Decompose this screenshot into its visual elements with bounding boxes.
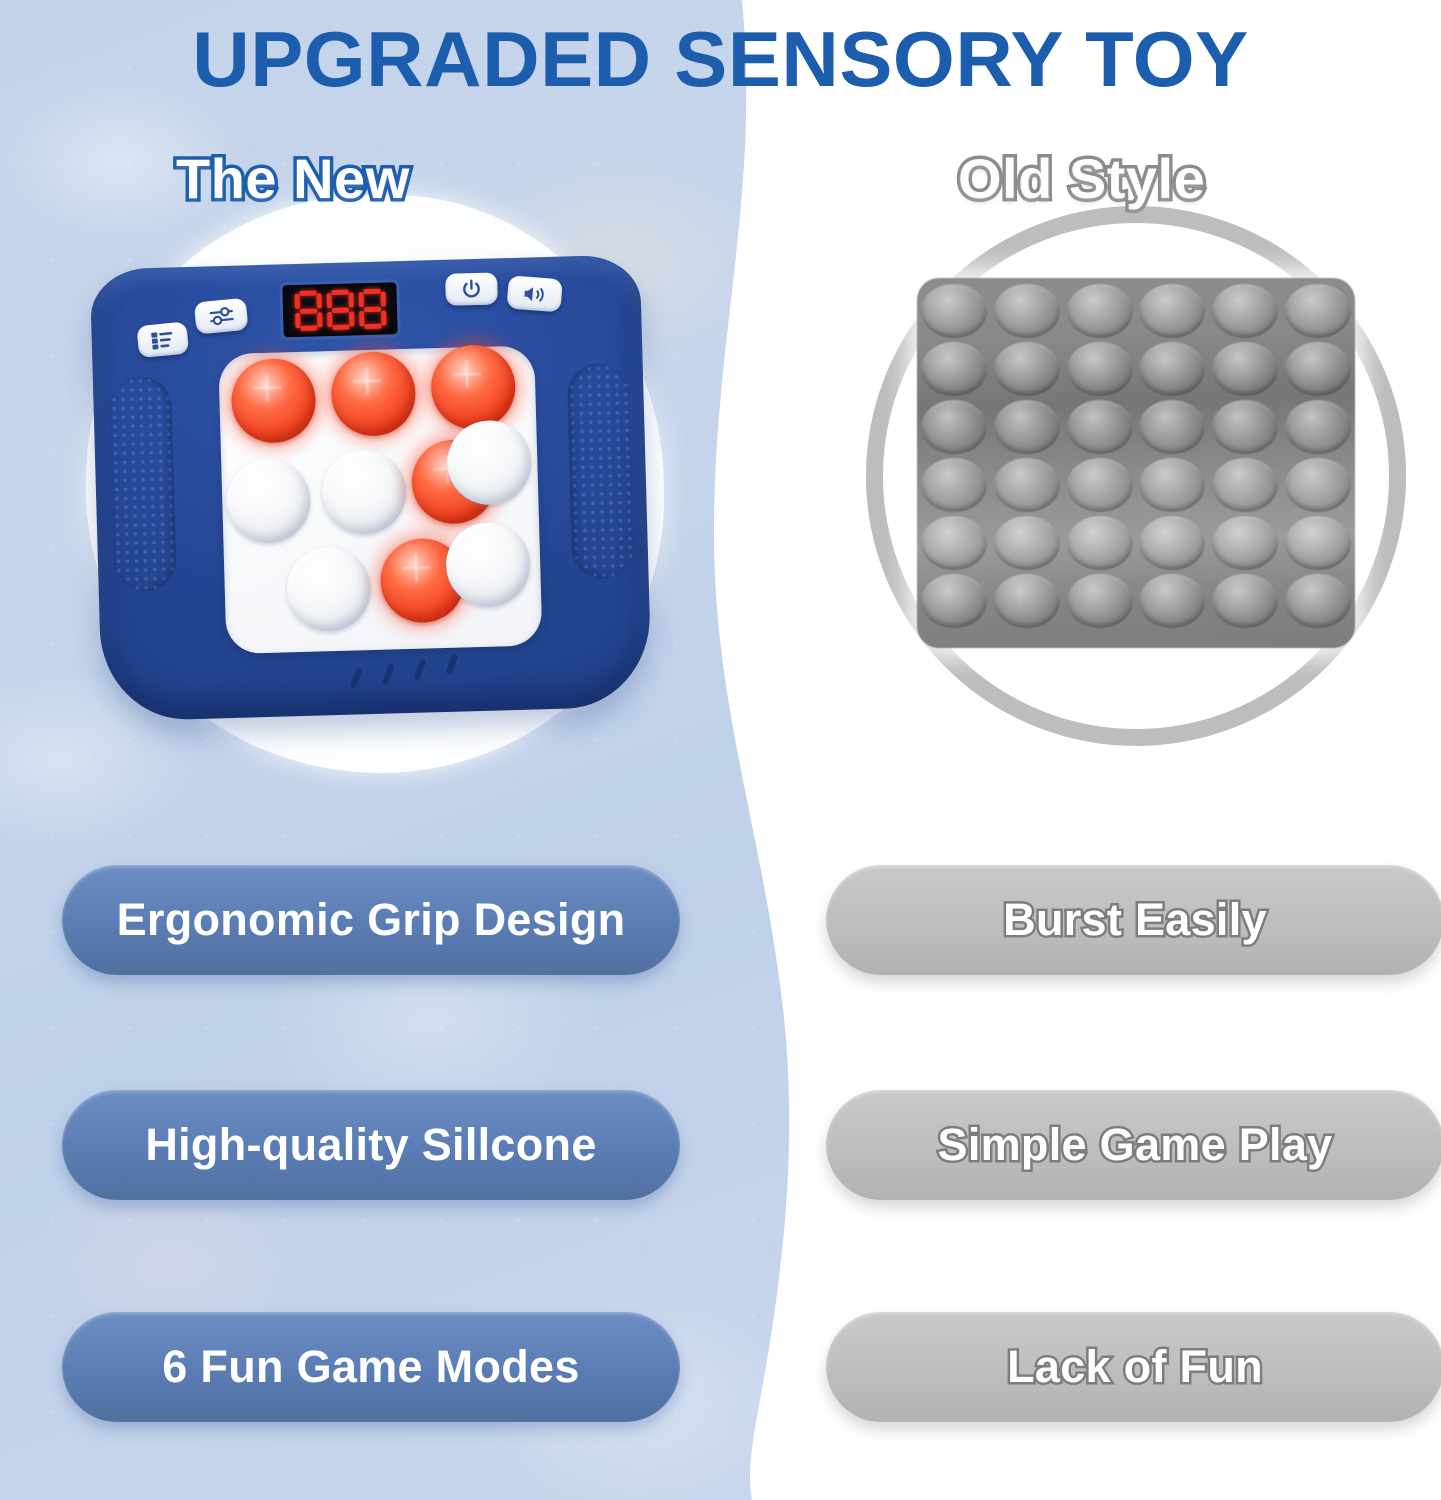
bubble-white[interactable] [321, 449, 407, 535]
pop-bubble [1067, 516, 1133, 570]
bubble-white[interactable] [225, 458, 311, 544]
bubble-red[interactable] [430, 344, 516, 430]
pop-bubble [994, 284, 1060, 338]
new-feature-pill-2: High-quality Sillcone [62, 1090, 680, 1200]
sliders-icon[interactable] [194, 298, 249, 335]
pop-bubble [1067, 284, 1133, 338]
pop-bubble [1285, 458, 1351, 512]
pop-bubble [994, 400, 1060, 454]
power-icon[interactable] [445, 272, 498, 305]
pop-bubble [1285, 516, 1351, 570]
pop-bubble [1285, 284, 1351, 338]
speaker-icon[interactable] [506, 275, 562, 312]
speaker-icon-glyph [522, 284, 547, 304]
pop-bubble [921, 458, 987, 512]
power-icon-glyph [461, 279, 482, 300]
pop-bubble [994, 516, 1060, 570]
pop-bubble [994, 574, 1060, 628]
old-feature-pill-2: Simple Game Play [826, 1090, 1441, 1200]
pop-bubble [1139, 400, 1205, 454]
pop-bubble [1212, 574, 1278, 628]
device-led-display [279, 279, 401, 340]
bubble-white[interactable] [445, 522, 531, 608]
pop-bubble [1212, 516, 1278, 570]
pop-bubble [1139, 458, 1205, 512]
pop-bubble [1285, 574, 1351, 628]
bubble-play-area [218, 345, 542, 654]
pop-bubble [1067, 400, 1133, 454]
pop-bubble [1139, 342, 1205, 396]
sliders-icon-glyph [208, 306, 235, 326]
bubble-red[interactable] [230, 358, 316, 444]
infographic-canvas: UPGRADED SENSORY TOY The New [0, 0, 1441, 1500]
pop-bubble [921, 400, 987, 454]
pop-bubble [1067, 458, 1133, 512]
pop-bubble [1139, 574, 1205, 628]
device-grip-right [567, 363, 635, 580]
led-digit [294, 290, 322, 331]
new-column-title: The New [176, 146, 410, 211]
pop-bubble [1067, 342, 1133, 396]
bubble-white[interactable] [446, 420, 532, 506]
bubble-red[interactable] [330, 351, 416, 437]
old-popit-illustration [917, 278, 1355, 648]
device-grip-left [109, 376, 177, 593]
pop-bubble [994, 458, 1060, 512]
new-feature-pill-3: 6 Fun Game Modes [62, 1312, 680, 1422]
pop-bubble [921, 284, 987, 338]
pop-bubble [1212, 342, 1278, 396]
list-icon[interactable] [136, 321, 189, 358]
page-title: UPGRADED SENSORY TOY [0, 14, 1441, 105]
old-column-title: Old Style [958, 146, 1205, 211]
pop-bubble [921, 342, 987, 396]
pop-bubble [1139, 516, 1205, 570]
pop-bubble [994, 342, 1060, 396]
new-device-illustration [90, 254, 652, 721]
pop-bubble [921, 516, 987, 570]
pop-bubble [1139, 284, 1205, 338]
old-feature-pill-1: Burst Easily [826, 865, 1441, 975]
list-icon-glyph [151, 330, 175, 349]
new-feature-pill-1: Ergonomic Grip Design [62, 865, 680, 975]
pop-bubble [1067, 574, 1133, 628]
pop-bubble [1285, 342, 1351, 396]
pop-bubble [1212, 458, 1278, 512]
led-digit [358, 289, 386, 330]
pop-bubble [1285, 400, 1351, 454]
pop-bubble [1212, 284, 1278, 338]
old-feature-pill-3: Lack of Fun [826, 1312, 1441, 1422]
led-digit [326, 289, 354, 330]
pop-bubble [1212, 400, 1278, 454]
pop-bubble [921, 574, 987, 628]
bubble-white[interactable] [286, 546, 372, 632]
